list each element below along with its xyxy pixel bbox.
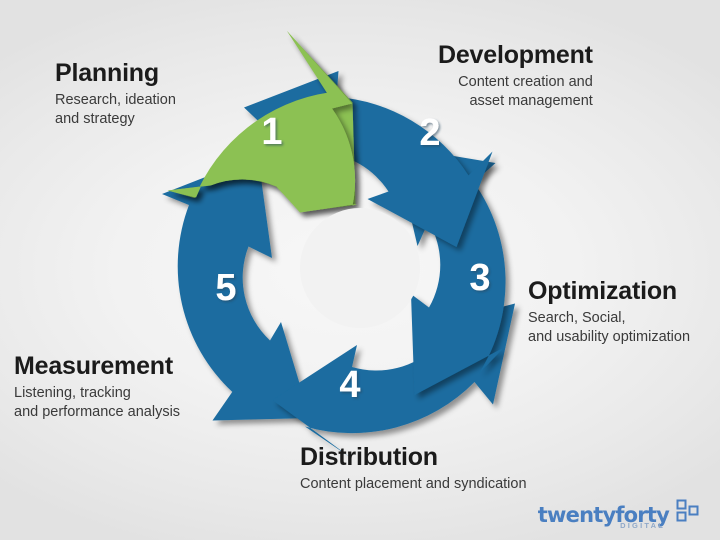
label-measurement-desc-line1: Listening, tracking bbox=[14, 384, 180, 403]
segment-number-3: 3 bbox=[469, 257, 490, 299]
brand-logo[interactable]: twentyforty DIGITAL bbox=[538, 499, 702, 526]
label-development-desc-line2: asset management bbox=[438, 92, 593, 111]
label-planning: Planning Research, ideation and strategy bbox=[55, 60, 176, 129]
label-measurement-desc: Listening, tracking and performance anal… bbox=[14, 384, 180, 423]
label-planning-desc-line2: and strategy bbox=[55, 110, 176, 129]
label-development: Development Content creation and asset m… bbox=[438, 42, 593, 111]
label-measurement-desc-line2: and performance analysis bbox=[14, 403, 180, 422]
label-development-title: Development bbox=[438, 42, 593, 70]
label-optimization-desc-line2: and usability optimization bbox=[528, 328, 690, 347]
label-measurement-title: Measurement bbox=[14, 353, 180, 381]
segment-number-1-label: 1 bbox=[261, 111, 282, 153]
label-distribution-desc: Content placement and syndication bbox=[300, 475, 527, 494]
segment-number-2: 2 bbox=[419, 112, 440, 154]
logo-subtitle-text: DIGITAL bbox=[620, 522, 665, 530]
label-optimization-desc: Search, Social, and usability optimizati… bbox=[528, 309, 690, 348]
label-distribution: Distribution Content placement and syndi… bbox=[300, 444, 527, 494]
segment-number-4: 4 bbox=[339, 364, 360, 406]
label-distribution-desc-line1: Content placement and syndication bbox=[300, 475, 527, 494]
twentyforty-blocks-mark-icon bbox=[676, 499, 702, 525]
logo-wordmark-group: twentyforty DIGITAL bbox=[538, 505, 669, 526]
segment-number-5: 5 bbox=[215, 267, 236, 309]
label-planning-title: Planning bbox=[55, 60, 176, 88]
cycle-center-hub bbox=[300, 208, 420, 328]
label-optimization-desc-line1: Search, Social, bbox=[528, 309, 690, 328]
label-planning-desc: Research, ideation and strategy bbox=[55, 91, 176, 130]
label-development-desc: Content creation and asset management bbox=[438, 73, 593, 112]
label-optimization-title: Optimization bbox=[528, 278, 690, 306]
label-distribution-title: Distribution bbox=[300, 444, 527, 472]
label-planning-desc-line1: Research, ideation bbox=[55, 91, 176, 110]
label-measurement: Measurement Listening, tracking and perf… bbox=[14, 353, 180, 422]
label-development-desc-line1: Content creation and bbox=[438, 73, 593, 92]
label-optimization: Optimization Search, Social, and usabili… bbox=[528, 278, 690, 347]
slide-canvas: 5 4 3 2 1 1 Planning bbox=[0, 0, 720, 540]
